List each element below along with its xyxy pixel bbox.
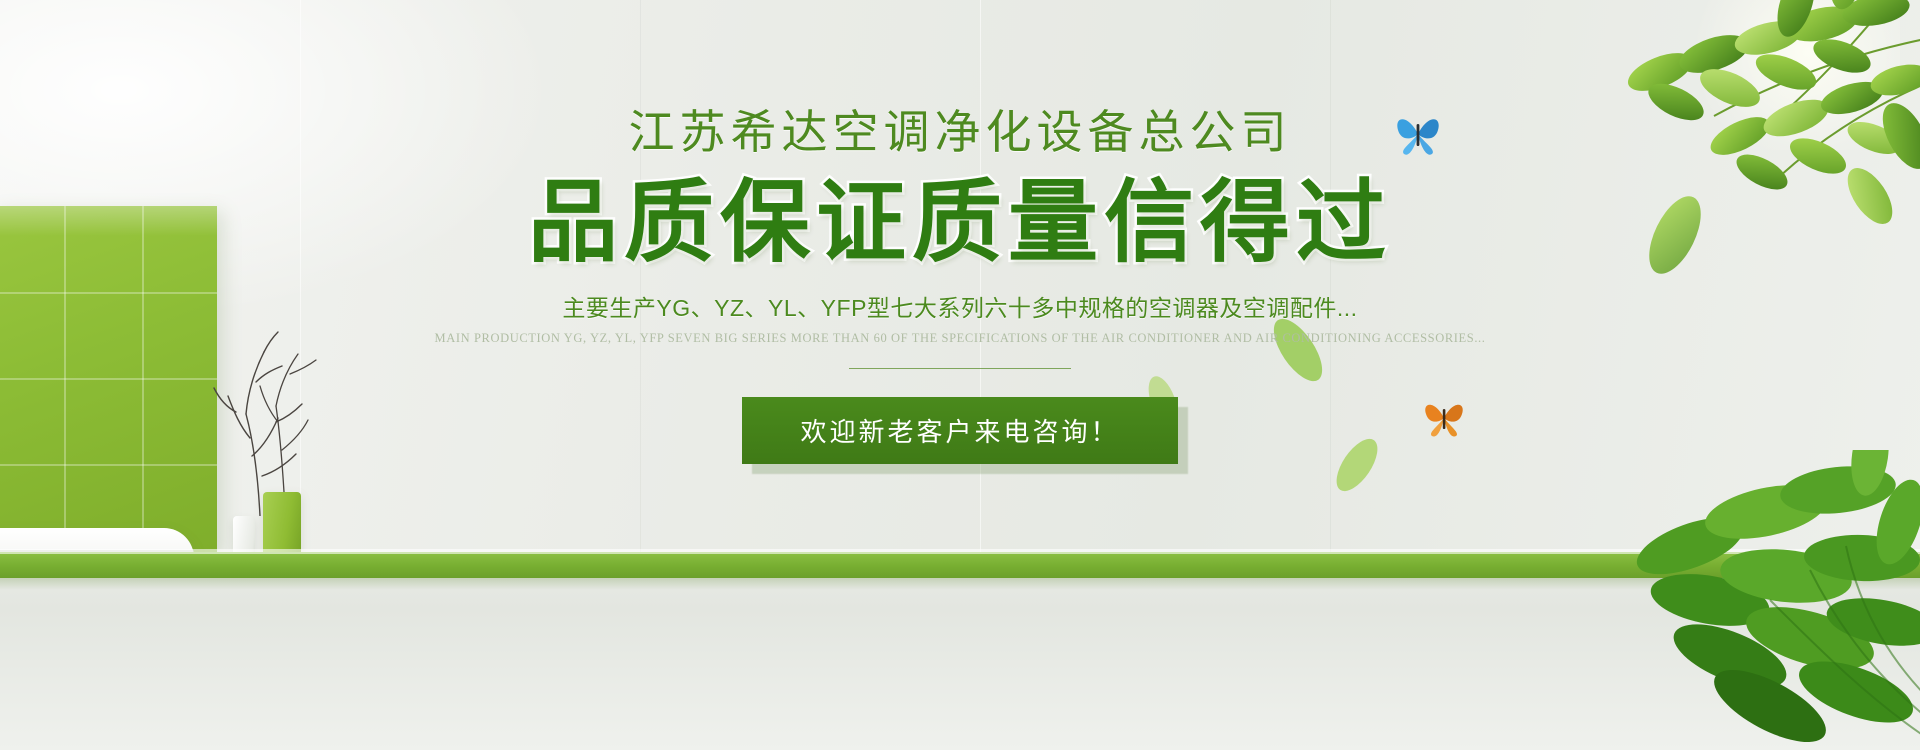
divider-rule <box>849 368 1071 369</box>
company-name: 江苏希达空调净化设备总公司 <box>629 104 1292 162</box>
contact-cta-button[interactable]: 欢迎新老客户来电咨询！ <box>742 397 1177 464</box>
banner-text-block: 江苏希达空调净化设备总公司 品质保证质量信得过 主要生产YG、YZ、YL、YFP… <box>0 0 1920 750</box>
headline-slogan: 品质保证质量信得过 <box>528 174 1392 273</box>
hero-banner: 江苏希达空调净化设备总公司 品质保证质量信得过 主要生产YG、YZ、YL、YFP… <box>0 0 1920 750</box>
product-description-english: MAIN PRODUCTION YG, YZ, YL, YFP SEVEN BI… <box>435 331 1486 346</box>
product-description: 主要生产YG、YZ、YL、YFP型七大系列六十多中规格的空调器及空调配件... <box>562 289 1357 323</box>
cta-wrapper: 欢迎新老客户来电咨询！ <box>742 397 1177 464</box>
